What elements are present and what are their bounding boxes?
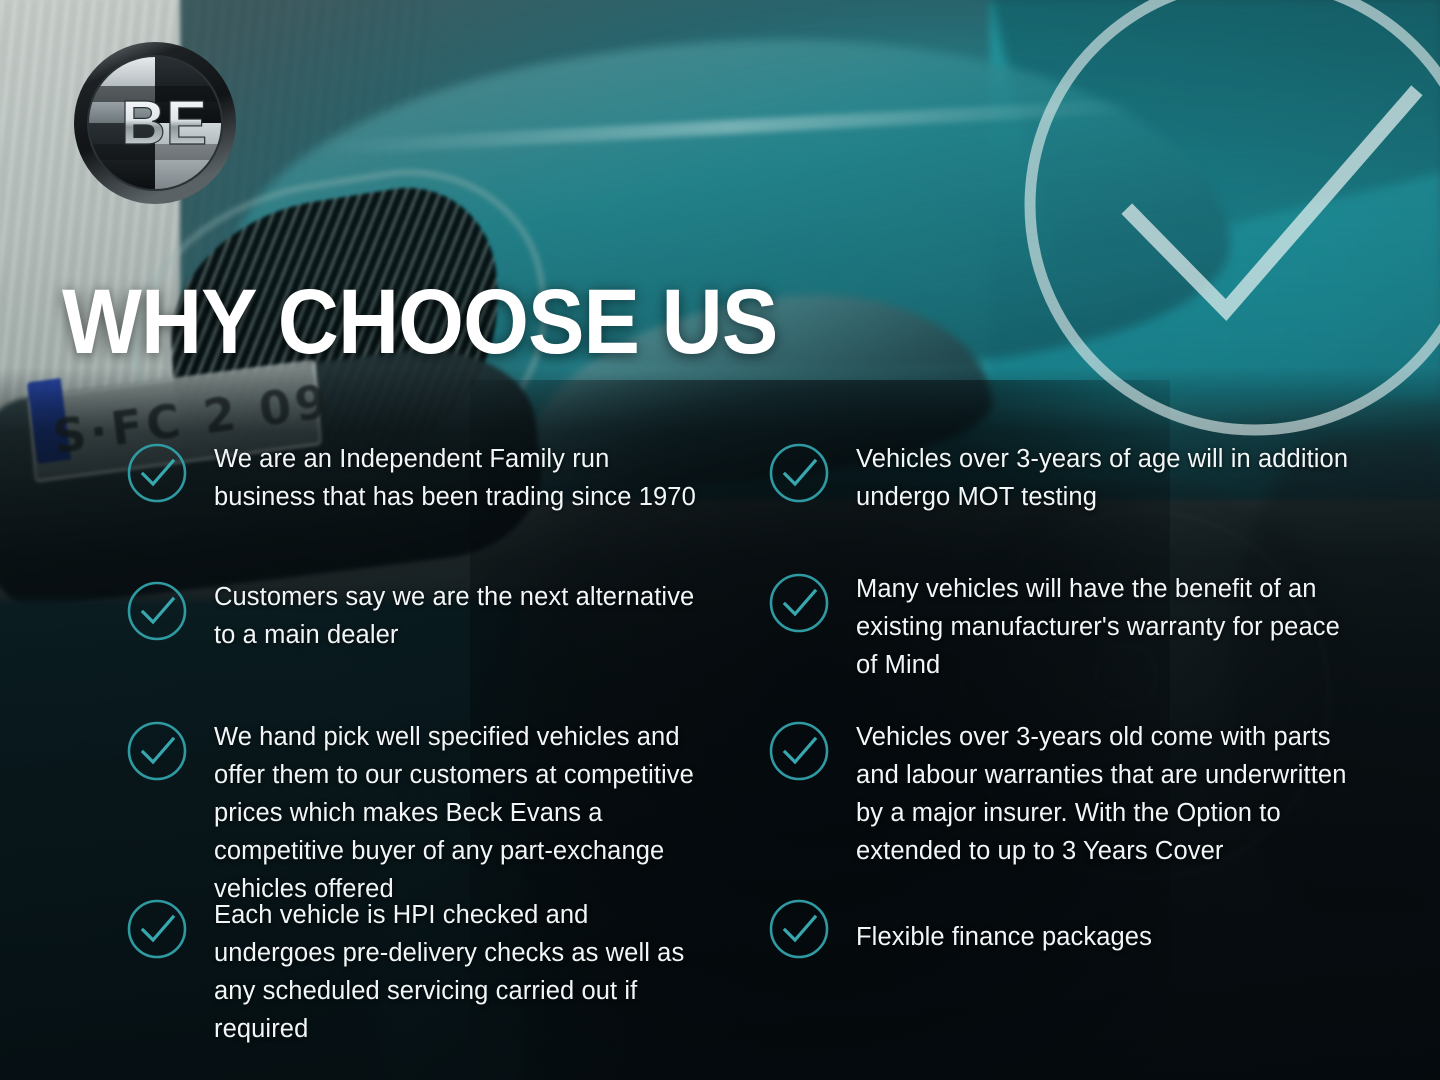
benefit-text: Flexible finance packages	[856, 896, 1152, 956]
benefit-item-left-4: Each vehicle is HPI checked and undergoe…	[126, 896, 714, 1048]
check-circle-icon	[126, 898, 188, 960]
page-title: WHY CHOOSE US	[62, 276, 777, 368]
benefit-text: Vehicles over 3-years of age will in add…	[856, 440, 1356, 516]
benefit-text: Customers say we are the next alternativ…	[214, 578, 714, 654]
be-roundel-logo-icon[interactable]: BE	[72, 40, 238, 206]
benefit-item-right-3: Vehicles over 3-years old come with part…	[768, 718, 1356, 870]
benefit-text: Many vehicles will have the benefit of a…	[856, 570, 1356, 684]
benefit-item-right-4: Flexible finance packages	[768, 896, 1152, 960]
svg-text:BE: BE	[121, 89, 207, 158]
benefit-item-left-3: We hand pick well specified vehicles and…	[126, 718, 714, 908]
check-circle-icon	[768, 720, 830, 782]
benefits-region: We are an Independent Family run busines…	[0, 418, 1440, 1080]
check-circle-icon	[126, 580, 188, 642]
check-circle-icon	[768, 442, 830, 504]
benefit-text: Vehicles over 3-years old come with part…	[856, 718, 1356, 870]
benefit-item-left-1: We are an Independent Family run busines…	[126, 440, 714, 516]
benefit-text: We are an Independent Family run busines…	[214, 440, 714, 516]
benefit-item-left-2: Customers say we are the next alternativ…	[126, 578, 714, 654]
check-circle-icon	[768, 898, 830, 960]
benefit-item-right-1: Vehicles over 3-years of age will in add…	[768, 440, 1356, 516]
benefit-text: Each vehicle is HPI checked and undergoe…	[214, 896, 714, 1048]
check-circle-icon	[126, 442, 188, 504]
hero-check-circle-icon	[1012, 0, 1440, 448]
check-circle-icon	[126, 720, 188, 782]
why-choose-us-slide: S·FC 2 09	[0, 0, 1440, 1080]
benefit-item-right-2: Many vehicles will have the benefit of a…	[768, 570, 1356, 684]
benefit-text: We hand pick well specified vehicles and…	[214, 718, 714, 908]
check-circle-icon	[768, 572, 830, 634]
